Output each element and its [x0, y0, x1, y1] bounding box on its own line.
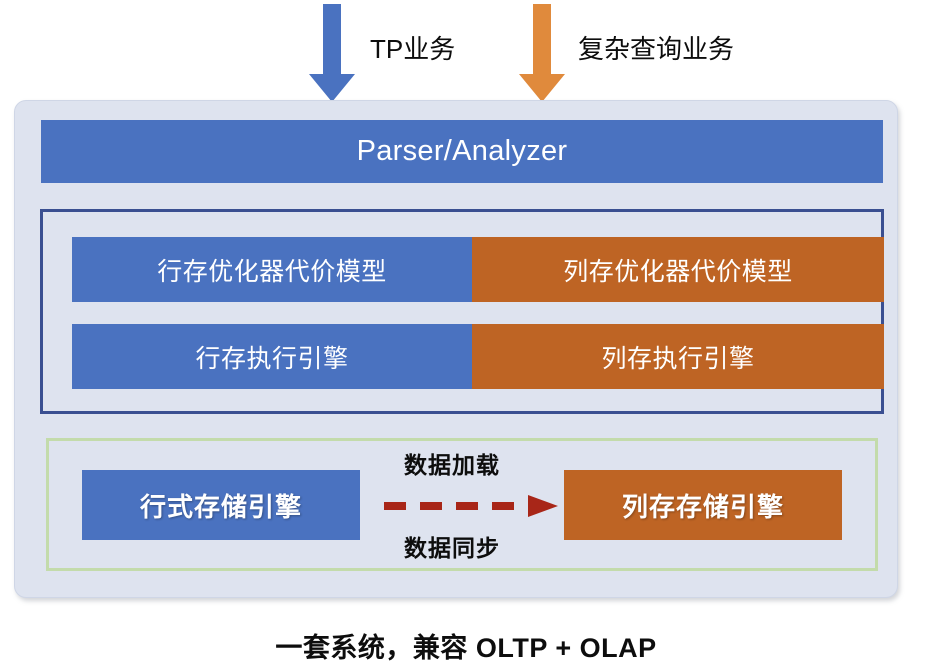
parser-analyzer-label: Parser/Analyzer [357, 135, 568, 168]
row-store-optimizer-label: 行存优化器代价模型 [157, 252, 387, 288]
row-store-execution-block: 行存执行引擎 [72, 324, 472, 389]
parser-analyzer-block: Parser/Analyzer [41, 120, 883, 183]
input-label-tp: TP业务 [370, 36, 455, 62]
dashed-arrow-right-icon [382, 493, 562, 519]
column-store-storage-engine-block: 列存存储引擎 [564, 470, 842, 540]
storage-group: 行式存储引擎 数据加载 数据同步 列存存储引擎 [46, 438, 878, 571]
data-sync-label: 数据同步 [404, 537, 500, 560]
row-store-optimizer-block: 行存优化器代价模型 [72, 237, 472, 302]
row-store-storage-engine-block: 行式存储引擎 [82, 470, 360, 540]
optimizer-row: 行存优化器代价模型 列存优化器代价模型 [72, 237, 884, 302]
data-load-label: 数据加载 [404, 454, 500, 477]
arrow-down-icon-ap [515, 4, 569, 104]
row-store-execution-label: 行存执行引擎 [195, 339, 348, 375]
architecture-diagram: TP业务 复杂查询业务 Parser/Analyzer 行存优化器代价模型 列存… [0, 0, 932, 672]
column-store-execution-block: 列存执行引擎 [472, 324, 884, 389]
diagram-caption: 一套系统，兼容 OLTP + OLAP [0, 626, 932, 665]
column-store-optimizer-block: 列存优化器代价模型 [472, 237, 884, 302]
column-store-storage-engine-label: 列存存储引擎 [622, 487, 784, 524]
system-panel: Parser/Analyzer 行存优化器代价模型 列存优化器代价模型 行存执行… [14, 100, 898, 598]
execution-row: 行存执行引擎 列存执行引擎 [72, 324, 884, 389]
arrow-down-icon-tp [305, 4, 359, 104]
engine-group: 行存优化器代价模型 列存优化器代价模型 行存执行引擎 列存执行引擎 [40, 209, 884, 414]
input-label-complex-query: 复杂查询业务 [578, 36, 734, 62]
row-store-storage-engine-label: 行式存储引擎 [140, 487, 302, 524]
column-store-optimizer-label: 列存优化器代价模型 [563, 252, 793, 288]
column-store-execution-label: 列存执行引擎 [601, 339, 754, 375]
